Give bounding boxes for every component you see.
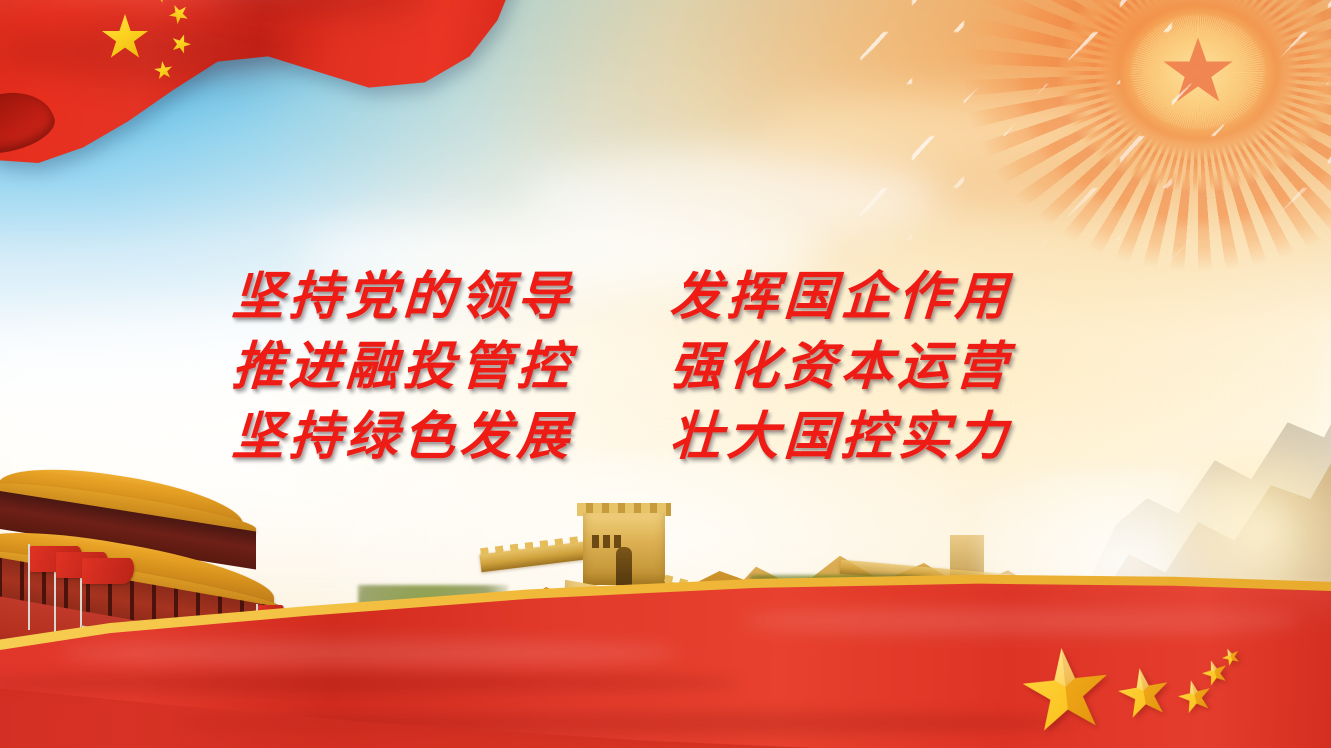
ribbon-fold: [0, 672, 740, 694]
slogan-row: 坚持绿色发展 壮大国控实力: [232, 406, 1092, 468]
flag-fold-shade: [0, 22, 300, 82]
slogan-block: 坚持党的领导 发挥国企作用 推进融投管控 强化资本运营 坚持绿色发展 壮大国控实…: [232, 266, 1092, 468]
slogan-text: 推进融投管控: [230, 336, 671, 398]
ribbon-highlight: [740, 608, 1300, 634]
china-flag-icon: [0, 0, 520, 202]
slogan-text: 壮大国控实力: [668, 406, 1071, 468]
poster-canvas: 中华人民共和国万岁 世界人民大团结万岁 坚持党的领导 发挥国企作用: [0, 0, 1331, 748]
ribbon-highlight: [60, 640, 680, 666]
red-flag-icon: [82, 558, 134, 584]
slogan-text: 坚持党的领导: [230, 266, 671, 328]
slogan-text: 发挥国企作用: [668, 266, 1071, 328]
five-pointed-star-icon: [1018, 644, 1115, 741]
slogan-text: 坚持绿色发展: [230, 406, 671, 468]
dash-pattern-overlay: [860, 0, 1331, 280]
slogan-row: 坚持党的领导 发挥国企作用: [232, 266, 1092, 328]
slogan-row: 推进融投管控 强化资本运营: [232, 336, 1092, 398]
five-pointed-star-icon: [1114, 664, 1174, 724]
slogan-text: 强化资本运营: [668, 336, 1071, 398]
